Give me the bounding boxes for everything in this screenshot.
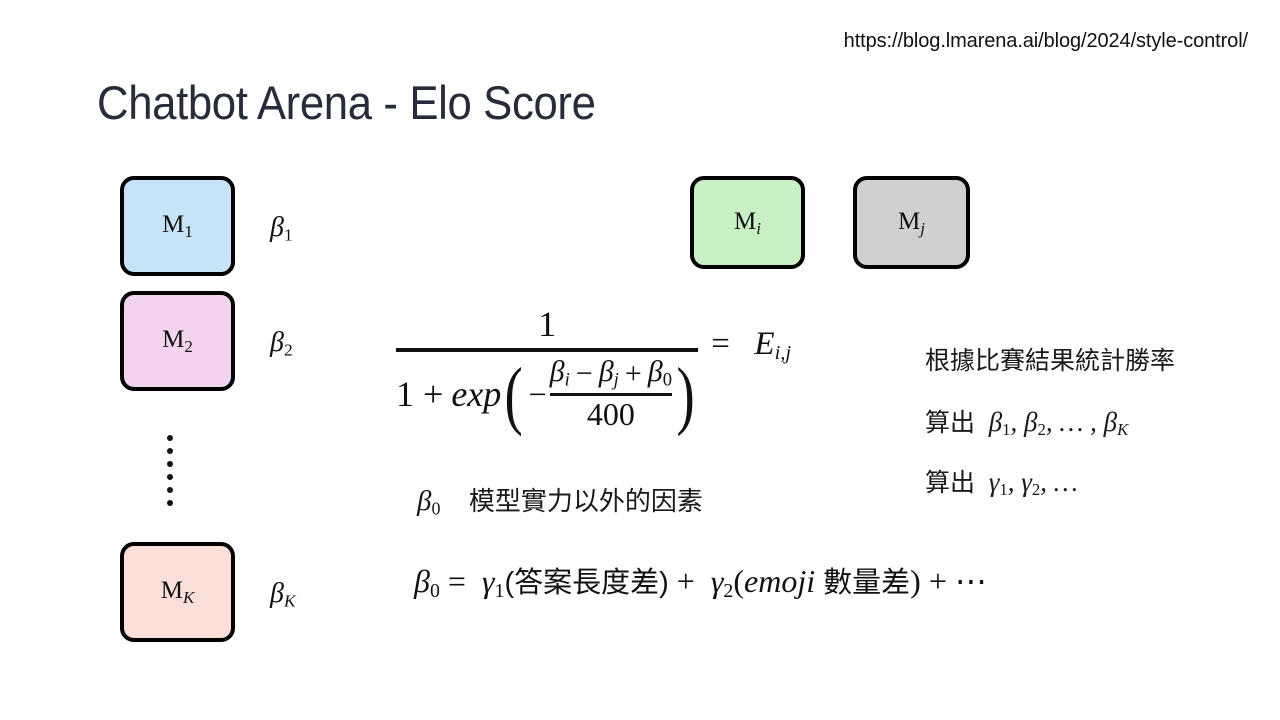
model-box-m2: M2 bbox=[120, 291, 235, 391]
annotation-compute-beta: 算出 β1, β2, … , βK bbox=[925, 409, 1128, 439]
beta0-eq-term2-cjk: 數量差 bbox=[815, 567, 910, 599]
outer-numerator: 1 bbox=[538, 306, 556, 348]
beta0-eq-equals: = bbox=[448, 563, 466, 599]
equals-sign: = bbox=[711, 326, 730, 362]
plus-operator: + bbox=[619, 359, 648, 389]
beta0-equation: β0 = γ1(答案長度差) + γ2(emoji 數量差) + ⋯ bbox=[414, 565, 987, 602]
source-url: https://blog.lmarena.ai/blog/2024/style-… bbox=[844, 30, 1248, 53]
beta0-eq-term2-open: ( bbox=[733, 563, 744, 599]
exp-function-name: exp bbox=[451, 376, 501, 412]
outer-denominator: 1 + exp ( − βi − βj + β0 400 ) bbox=[396, 352, 698, 430]
annotation-beta-list: β1, β2, … , βK bbox=[982, 407, 1128, 437]
inner-denominator: 400 bbox=[587, 396, 635, 430]
beta-label-k: βK bbox=[270, 580, 296, 610]
beta-label-1: β1 bbox=[270, 214, 293, 244]
annotation-compute-beta-prefix: 算出 bbox=[925, 409, 975, 437]
beta-0-term: β0 bbox=[648, 357, 672, 390]
right-paren: ) bbox=[677, 364, 695, 426]
model-box-mk-label: MK bbox=[161, 578, 195, 606]
negation-sign: − bbox=[527, 378, 549, 410]
vertical-ellipsis-icon bbox=[167, 435, 173, 506]
beta0-eq-gamma2: γ2 bbox=[703, 563, 734, 599]
beta-j-term: βj bbox=[599, 357, 619, 390]
beta0-note: β0 模型實力以外的因素 bbox=[417, 487, 703, 517]
slide-canvas: https://blog.lmarena.ai/blog/2024/style-… bbox=[0, 0, 1280, 720]
denominator-one-plus: 1 + bbox=[396, 376, 443, 412]
beta0-note-text: 模型實力以外的因素 bbox=[469, 486, 703, 516]
model-box-mk: MK bbox=[120, 542, 235, 642]
formula-result: = Ei,j bbox=[711, 328, 791, 364]
beta-label-2: β2 bbox=[270, 329, 293, 359]
model-box-mj: Mj bbox=[853, 176, 970, 269]
model-box-mi-label: Mi bbox=[734, 209, 761, 237]
elo-probability-formula: 1 1 + exp ( − βi − βj + β0 400 bbox=[396, 306, 791, 430]
beta0-eq-lhs: β0 bbox=[414, 563, 440, 599]
model-box-mj-label: Mj bbox=[898, 209, 925, 237]
corner-artifact bbox=[0, 0, 33, 31]
model-box-m1: M1 bbox=[120, 176, 235, 276]
annotation-gamma-list: γ1, γ2, … bbox=[982, 467, 1078, 497]
page-title: Chatbot Arena - Elo Score bbox=[97, 75, 596, 130]
model-box-mi: Mi bbox=[690, 176, 805, 269]
inner-numerator: βi − βj + β0 bbox=[550, 357, 672, 393]
annotation-win-rate: 根據比賽結果統計勝率 bbox=[925, 349, 1175, 374]
beta0-eq-term1: (答案長度差) bbox=[504, 567, 668, 599]
inner-fraction: βi − βj + β0 400 bbox=[550, 357, 672, 430]
annotation-compute-gamma-prefix: 算出 bbox=[925, 469, 975, 497]
beta0-eq-gamma1: γ1 bbox=[474, 563, 505, 599]
beta0-eq-term2-close: ) bbox=[910, 563, 921, 599]
model-box-m1-label: M1 bbox=[162, 212, 193, 240]
outer-fraction: 1 1 + exp ( − βi − βj + β0 400 bbox=[396, 306, 698, 430]
model-box-m2-label: M2 bbox=[162, 327, 193, 355]
beta-i-term: βi bbox=[550, 357, 570, 390]
minus-operator: − bbox=[570, 359, 599, 389]
left-paren: ( bbox=[505, 364, 523, 426]
beta0-eq-term2-emoji: emoji bbox=[744, 563, 815, 599]
beta0-eq-trailing: + ⋯ bbox=[929, 563, 987, 599]
annotation-compute-gamma: 算出 γ1, γ2, … bbox=[925, 469, 1078, 499]
beta0-note-symbol: β0 bbox=[417, 485, 440, 517]
expected-score-symbol: Ei,j bbox=[754, 326, 791, 362]
beta0-eq-plus: + bbox=[677, 563, 695, 599]
